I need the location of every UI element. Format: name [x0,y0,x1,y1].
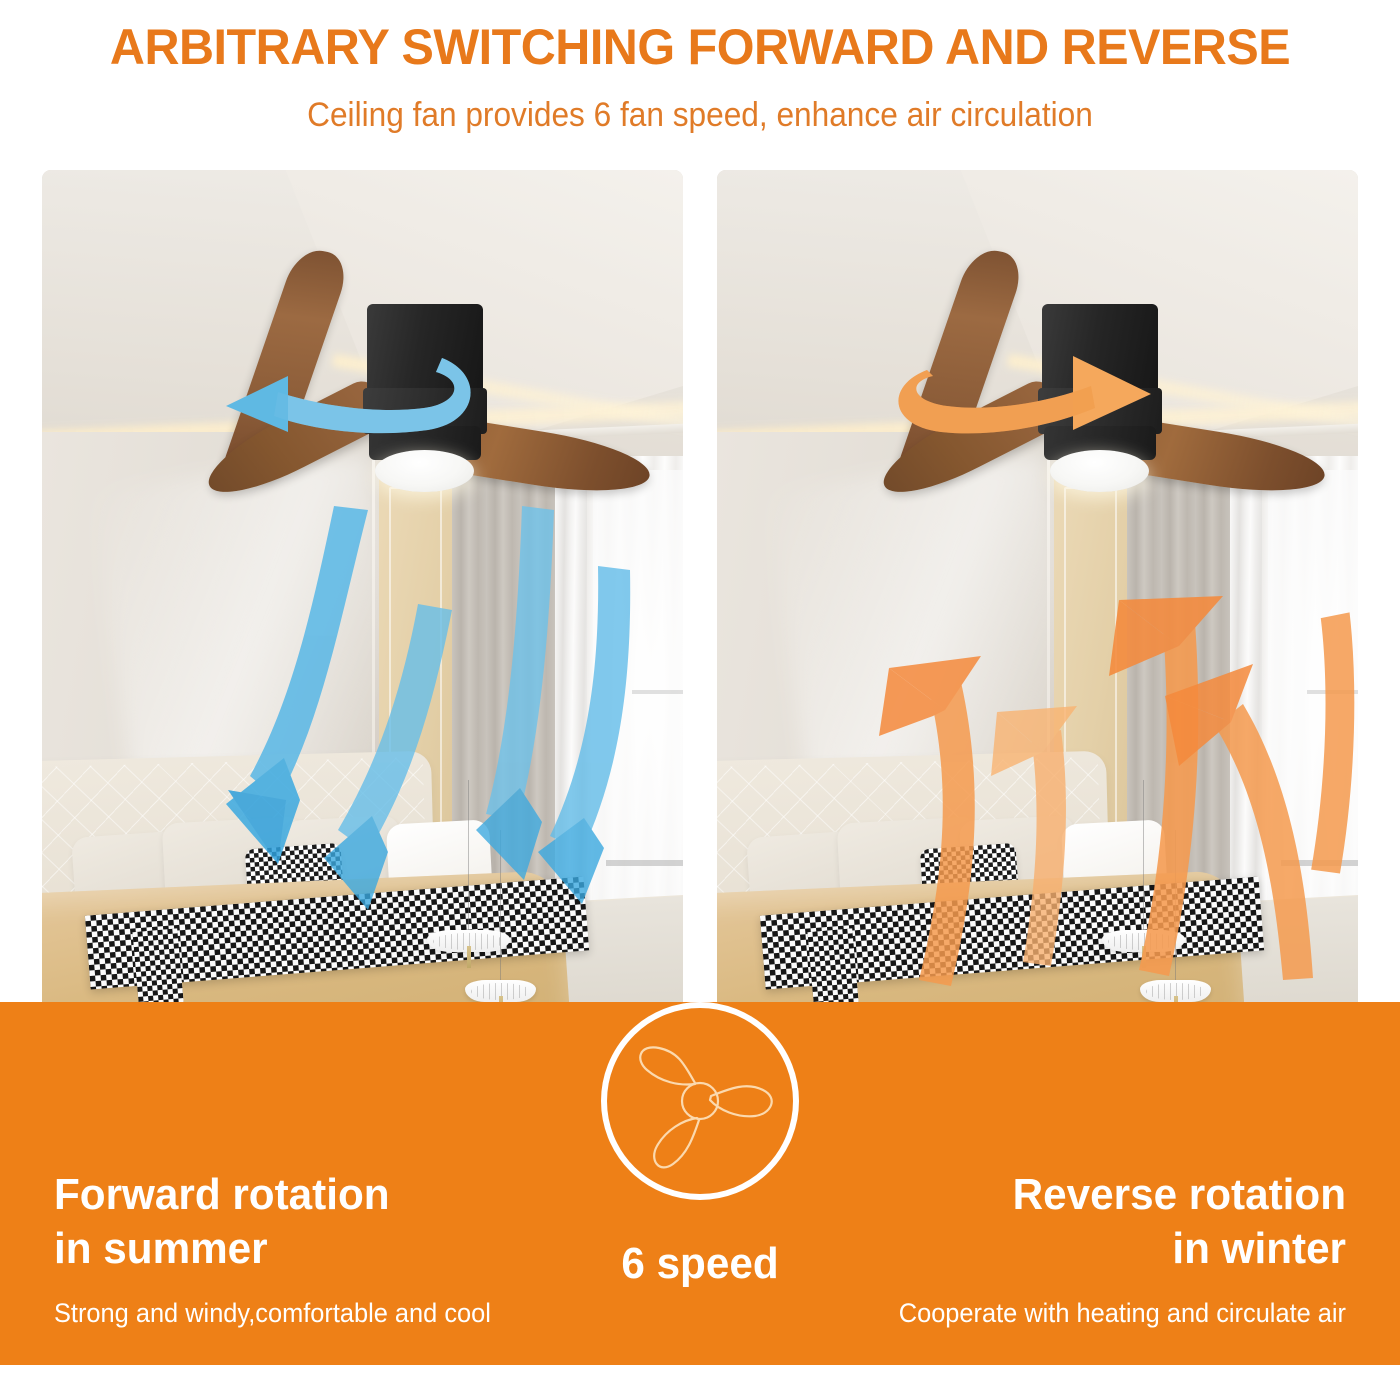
counterclockwise-rotation-arrow [192,330,492,450]
window-frame-lower [606,860,683,866]
banner-left-text: Forward rotation in summer Strong and wi… [54,1168,574,1330]
pendant-stem [1142,946,1146,968]
pendant-stem [467,946,471,968]
speed-badge-label: 6 speed [537,1238,863,1291]
header: ARBITRARY SWITCHING FORWARD AND REVERSE … [0,0,1400,160]
banner-left-caption: Strong and windy,comfortable and cool [54,1297,543,1329]
window-frame-upper [632,690,683,694]
fan-light-disc [375,450,474,492]
pendant-cord [500,830,501,980]
fan-blade-icon [607,1008,793,1194]
pendant-cord [1175,830,1176,980]
bedroom-scene-right [717,170,1358,1145]
banner-left-heading-line1: Forward rotation [54,1170,390,1219]
banner-right-heading-line2: in winter [847,1222,1346,1276]
banner-right-caption: Cooperate with heating and circulate air [857,1297,1346,1329]
banner-right-heading-line1: Reverse rotation [1013,1170,1346,1219]
banner-right-heading: Reverse rotation in winter [847,1168,1346,1275]
banner-left-heading: Forward rotation in summer [54,1168,553,1275]
fan-light-disc [1050,450,1149,492]
window-frame-upper [1307,690,1358,694]
banner-right-text: Reverse rotation in winter Cooperate wit… [826,1168,1346,1330]
pendant-cord [468,780,469,930]
infographic-page: ARBITRARY SWITCHING FORWARD AND REVERSE … [0,0,1400,1400]
page-title: ARBITRARY SWITCHING FORWARD AND REVERSE [21,22,1379,72]
panel-forward-rotation [42,170,683,1145]
window-frame-lower [1281,860,1358,866]
page-subtitle: Ceiling fan provides 6 fan speed, enhanc… [49,98,1351,132]
panel-reverse-rotation [717,170,1358,1145]
clockwise-rotation-arrow [867,330,1167,450]
bedroom-scene-left [42,170,683,1145]
pendant-cord [1143,780,1144,930]
speed-badge [601,1002,799,1200]
banner-left-heading-line2: in summer [54,1222,553,1276]
